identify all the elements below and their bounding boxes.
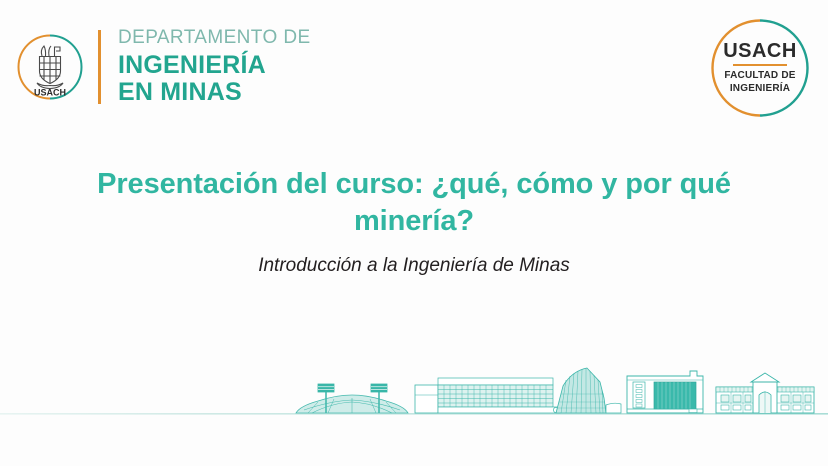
- ground-line: [0, 413, 828, 415]
- slide-root: USACH DEPARTAMENTO DE INGENIERÍA EN MINA…: [0, 0, 828, 466]
- page-title: Presentación del curso: ¿qué, cómo y por…: [60, 166, 768, 240]
- building-long-block: [415, 378, 560, 413]
- campus-skyline-illustration: [0, 346, 828, 466]
- svg-text:USACH: USACH: [34, 88, 66, 98]
- department-line-2: INGENIERÍA: [118, 52, 311, 79]
- building-classical: [716, 373, 814, 413]
- building-stadium: [296, 384, 408, 413]
- slide-header: USACH DEPARTAMENTO DE INGENIERÍA EN MINA…: [0, 0, 828, 132]
- department-line-1: DEPARTAMENTO DE: [118, 28, 311, 47]
- faculty-badge-logo: USACH FACULTAD DE INGENIERÍA: [710, 18, 810, 118]
- building-peaked-structure: [556, 368, 621, 413]
- building-modern-panel: [627, 371, 703, 413]
- department-line-3: EN MINAS: [118, 79, 311, 106]
- usach-seal-icon: USACH: [16, 33, 84, 101]
- header-divider: [98, 30, 101, 104]
- department-title-text: DEPARTAMENTO DE INGENIERÍA EN MINAS: [118, 28, 311, 106]
- title-block: Presentación del curso: ¿qué, cómo y por…: [60, 166, 768, 279]
- department-logo: USACH DEPARTAMENTO DE INGENIERÍA EN MINA…: [16, 22, 311, 112]
- page-subtitle: Introducción a la Ingeniería de Minas: [60, 254, 768, 279]
